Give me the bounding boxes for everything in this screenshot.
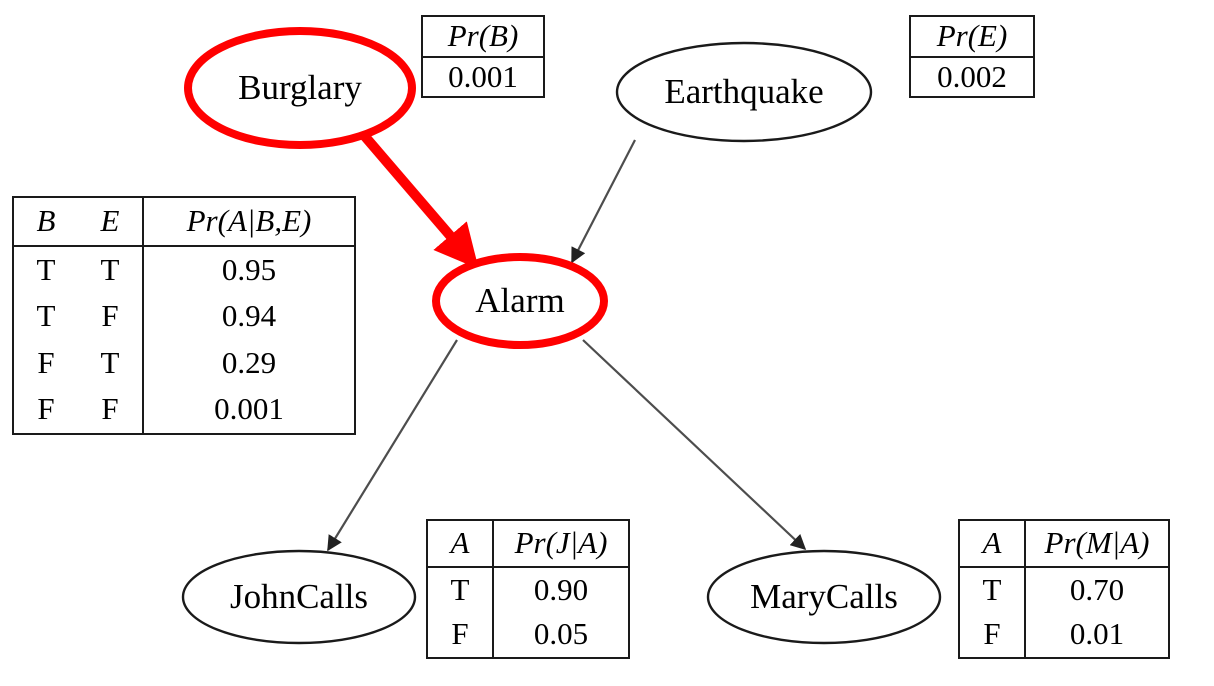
cpt-john-header-a: A: [427, 520, 493, 567]
edge-alarm-to-marycalls: [583, 340, 805, 549]
table-row: T T 0.95: [13, 246, 355, 294]
cpt-alarm-r2-prob: 0.29: [143, 340, 355, 387]
edge-burglary-to-alarm-highlighted: [362, 133, 465, 253]
table-header-row: Pr(E): [910, 16, 1034, 57]
cpt-mary-r1-prob: 0.01: [1025, 612, 1169, 658]
cpt-table-alarm: B E Pr(A|B,E) T T 0.95 T F 0.94 F T 0.29…: [12, 196, 356, 435]
table-row: 0.002: [910, 57, 1034, 98]
table-row: F 0.01: [959, 612, 1169, 658]
cpt-mary-r0-a: T: [959, 567, 1025, 613]
node-alarm[interactable]: Alarm: [436, 257, 604, 345]
cpt-burglary-header-prob: Pr(B): [422, 16, 544, 57]
table-row: T 0.90: [427, 567, 629, 613]
cpt-alarm-r3-b: F: [13, 386, 78, 434]
node-johncalls-label: JohnCalls: [230, 577, 368, 616]
cpt-john-r0-prob: 0.90: [493, 567, 629, 613]
cpt-table-earthquake: Pr(E) 0.002: [909, 15, 1035, 98]
bayesian-network-diagram: Burglary Earthquake Alarm JohnCalls Mary…: [0, 0, 1214, 686]
table-row: T F 0.94: [13, 293, 355, 340]
node-alarm-label: Alarm: [475, 281, 564, 320]
cpt-john-r1-a: F: [427, 612, 493, 658]
cpt-alarm-r0-e: T: [78, 246, 143, 294]
node-johncalls[interactable]: JohnCalls: [183, 551, 415, 643]
table-header-row: A Pr(J|A): [427, 520, 629, 567]
table-row: F 0.05: [427, 612, 629, 658]
node-burglary[interactable]: Burglary: [188, 31, 412, 145]
node-burglary-label: Burglary: [238, 68, 362, 107]
cpt-earthquake-header-prob: Pr(E): [910, 16, 1034, 57]
cpt-john-header-prob: Pr(J|A): [493, 520, 629, 567]
cpt-john-r1-prob: 0.05: [493, 612, 629, 658]
cpt-alarm-r1-e: F: [78, 293, 143, 340]
node-marycalls-label: MaryCalls: [750, 577, 898, 616]
cpt-alarm-r2-e: T: [78, 340, 143, 387]
table-header-row: A Pr(M|A): [959, 520, 1169, 567]
cpt-burglary-value: 0.001: [422, 57, 544, 98]
cpt-alarm-header-b: B: [13, 197, 78, 246]
table-row: 0.001: [422, 57, 544, 98]
cpt-john-r0-a: T: [427, 567, 493, 613]
cpt-alarm-r2-b: F: [13, 340, 78, 387]
cpt-mary-header-prob: Pr(M|A): [1025, 520, 1169, 567]
cpt-alarm-r3-prob: 0.001: [143, 386, 355, 434]
table-row: F F 0.001: [13, 386, 355, 434]
cpt-alarm-r1-b: T: [13, 293, 78, 340]
table-header-row: B E Pr(A|B,E): [13, 197, 355, 246]
cpt-mary-r0-prob: 0.70: [1025, 567, 1169, 613]
cpt-table-johncalls: A Pr(J|A) T 0.90 F 0.05: [426, 519, 630, 659]
cpt-mary-header-a: A: [959, 520, 1025, 567]
table-row: F T 0.29: [13, 340, 355, 387]
cpt-earthquake-value: 0.002: [910, 57, 1034, 98]
cpt-table-marycalls: A Pr(M|A) T 0.70 F 0.01: [958, 519, 1170, 659]
table-row: T 0.70: [959, 567, 1169, 613]
cpt-alarm-header-prob: Pr(A|B,E): [143, 197, 355, 246]
cpt-mary-r1-a: F: [959, 612, 1025, 658]
edge-earthquake-to-alarm: [572, 140, 635, 262]
cpt-table-burglary: Pr(B) 0.001: [421, 15, 545, 98]
cpt-alarm-header-e: E: [78, 197, 143, 246]
cpt-alarm-r0-prob: 0.95: [143, 246, 355, 294]
table-header-row: Pr(B): [422, 16, 544, 57]
cpt-alarm-r0-b: T: [13, 246, 78, 294]
node-earthquake-label: Earthquake: [664, 72, 823, 111]
node-marycalls[interactable]: MaryCalls: [708, 551, 940, 643]
cpt-alarm-r1-prob: 0.94: [143, 293, 355, 340]
cpt-alarm-r3-e: F: [78, 386, 143, 434]
node-earthquake[interactable]: Earthquake: [617, 43, 871, 141]
